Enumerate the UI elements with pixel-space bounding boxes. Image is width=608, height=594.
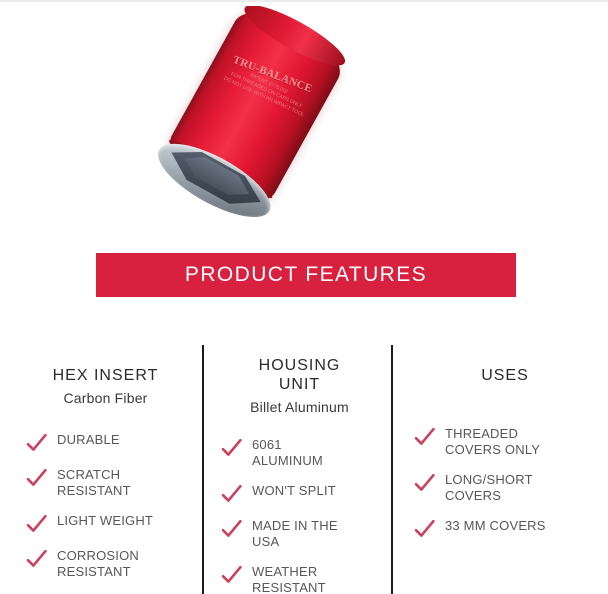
product-features-infographic: TRU-BALANCE PATENT 0775,002 FOR THREADED…: [0, 0, 608, 594]
column-divider-2: [391, 345, 393, 594]
feature-label: CORROSION RESISTANT: [57, 548, 139, 580]
check-icon: [26, 549, 48, 569]
feature-list: DURABLE SCRATCH RESISTANT LIGHT WEIGHT C…: [26, 432, 185, 580]
check-icon: [26, 433, 48, 453]
feature-label: 6061 ALUMINUM: [252, 437, 323, 469]
feature-label: SCRATCH RESISTANT: [57, 467, 131, 499]
feature-label: LIGHT WEIGHT: [57, 513, 153, 529]
feature-label: WON'T SPLIT: [252, 483, 336, 499]
feature-label: WEATHER RESISTANT: [252, 564, 326, 594]
feature-list: 6061 ALUMINUM WON'T SPLIT MADE IN THE US…: [221, 437, 378, 594]
socket-product-image: TRU-BALANCE PATENT 0775,002 FOR THREADED…: [159, 6, 350, 215]
feature-column-housing-unit: HOUSING UNIT Billet Aluminum 6061 ALUMIN…: [203, 345, 392, 594]
product-features-title: PRODUCT FEATURES: [185, 263, 427, 287]
feature-column-hex-insert: HEX INSERT Carbon Fiber DURABLE SCRATCH …: [0, 345, 203, 594]
list-item: WON'T SPLIT: [221, 483, 378, 504]
check-icon: [221, 519, 243, 539]
list-item: CORROSION RESISTANT: [26, 548, 185, 580]
check-icon: [221, 484, 243, 504]
list-item: THREADED COVERS ONLY: [414, 426, 596, 458]
product-features-banner: PRODUCT FEATURES: [96, 253, 516, 297]
list-item: SCRATCH RESISTANT: [26, 467, 185, 499]
feature-label: 33 MM COVERS: [445, 518, 546, 534]
feature-label: DURABLE: [57, 432, 120, 448]
list-item: DURABLE: [26, 432, 185, 453]
check-icon: [221, 438, 243, 458]
column-subheading: Carbon Fiber: [26, 390, 185, 406]
column-heading: HEX INSERT: [26, 366, 185, 385]
check-icon: [414, 519, 436, 539]
check-icon: [26, 514, 48, 534]
column-heading: USES: [414, 366, 596, 385]
check-icon: [414, 427, 436, 447]
product-photo: TRU-BALANCE PATENT 0775,002 FOR THREADED…: [0, 6, 608, 238]
list-item: 33 MM COVERS: [414, 518, 596, 539]
column-heading: HOUSING UNIT: [221, 356, 378, 394]
column-divider-1: [202, 345, 204, 594]
list-item: 6061 ALUMINUM: [221, 437, 378, 469]
feature-list: THREADED COVERS ONLY LONG/SHORT COVERS 3…: [414, 426, 596, 539]
feature-column-uses: USES THREADED COVERS ONLY LONG/SHORT COV…: [392, 345, 608, 594]
list-item: LONG/SHORT COVERS: [414, 472, 596, 504]
check-icon: [26, 468, 48, 488]
feature-columns: HEX INSERT Carbon Fiber DURABLE SCRATCH …: [0, 345, 608, 594]
column-subheading: Billet Aluminum: [221, 399, 378, 415]
list-item: MADE IN THE USA: [221, 518, 378, 550]
feature-label: LONG/SHORT COVERS: [445, 472, 533, 504]
check-icon: [221, 565, 243, 585]
check-icon: [414, 473, 436, 493]
feature-label: MADE IN THE USA: [252, 518, 338, 550]
top-divider: [0, 0, 608, 2]
list-item: WEATHER RESISTANT: [221, 564, 378, 594]
list-item: LIGHT WEIGHT: [26, 513, 185, 534]
feature-label: THREADED COVERS ONLY: [445, 426, 540, 458]
